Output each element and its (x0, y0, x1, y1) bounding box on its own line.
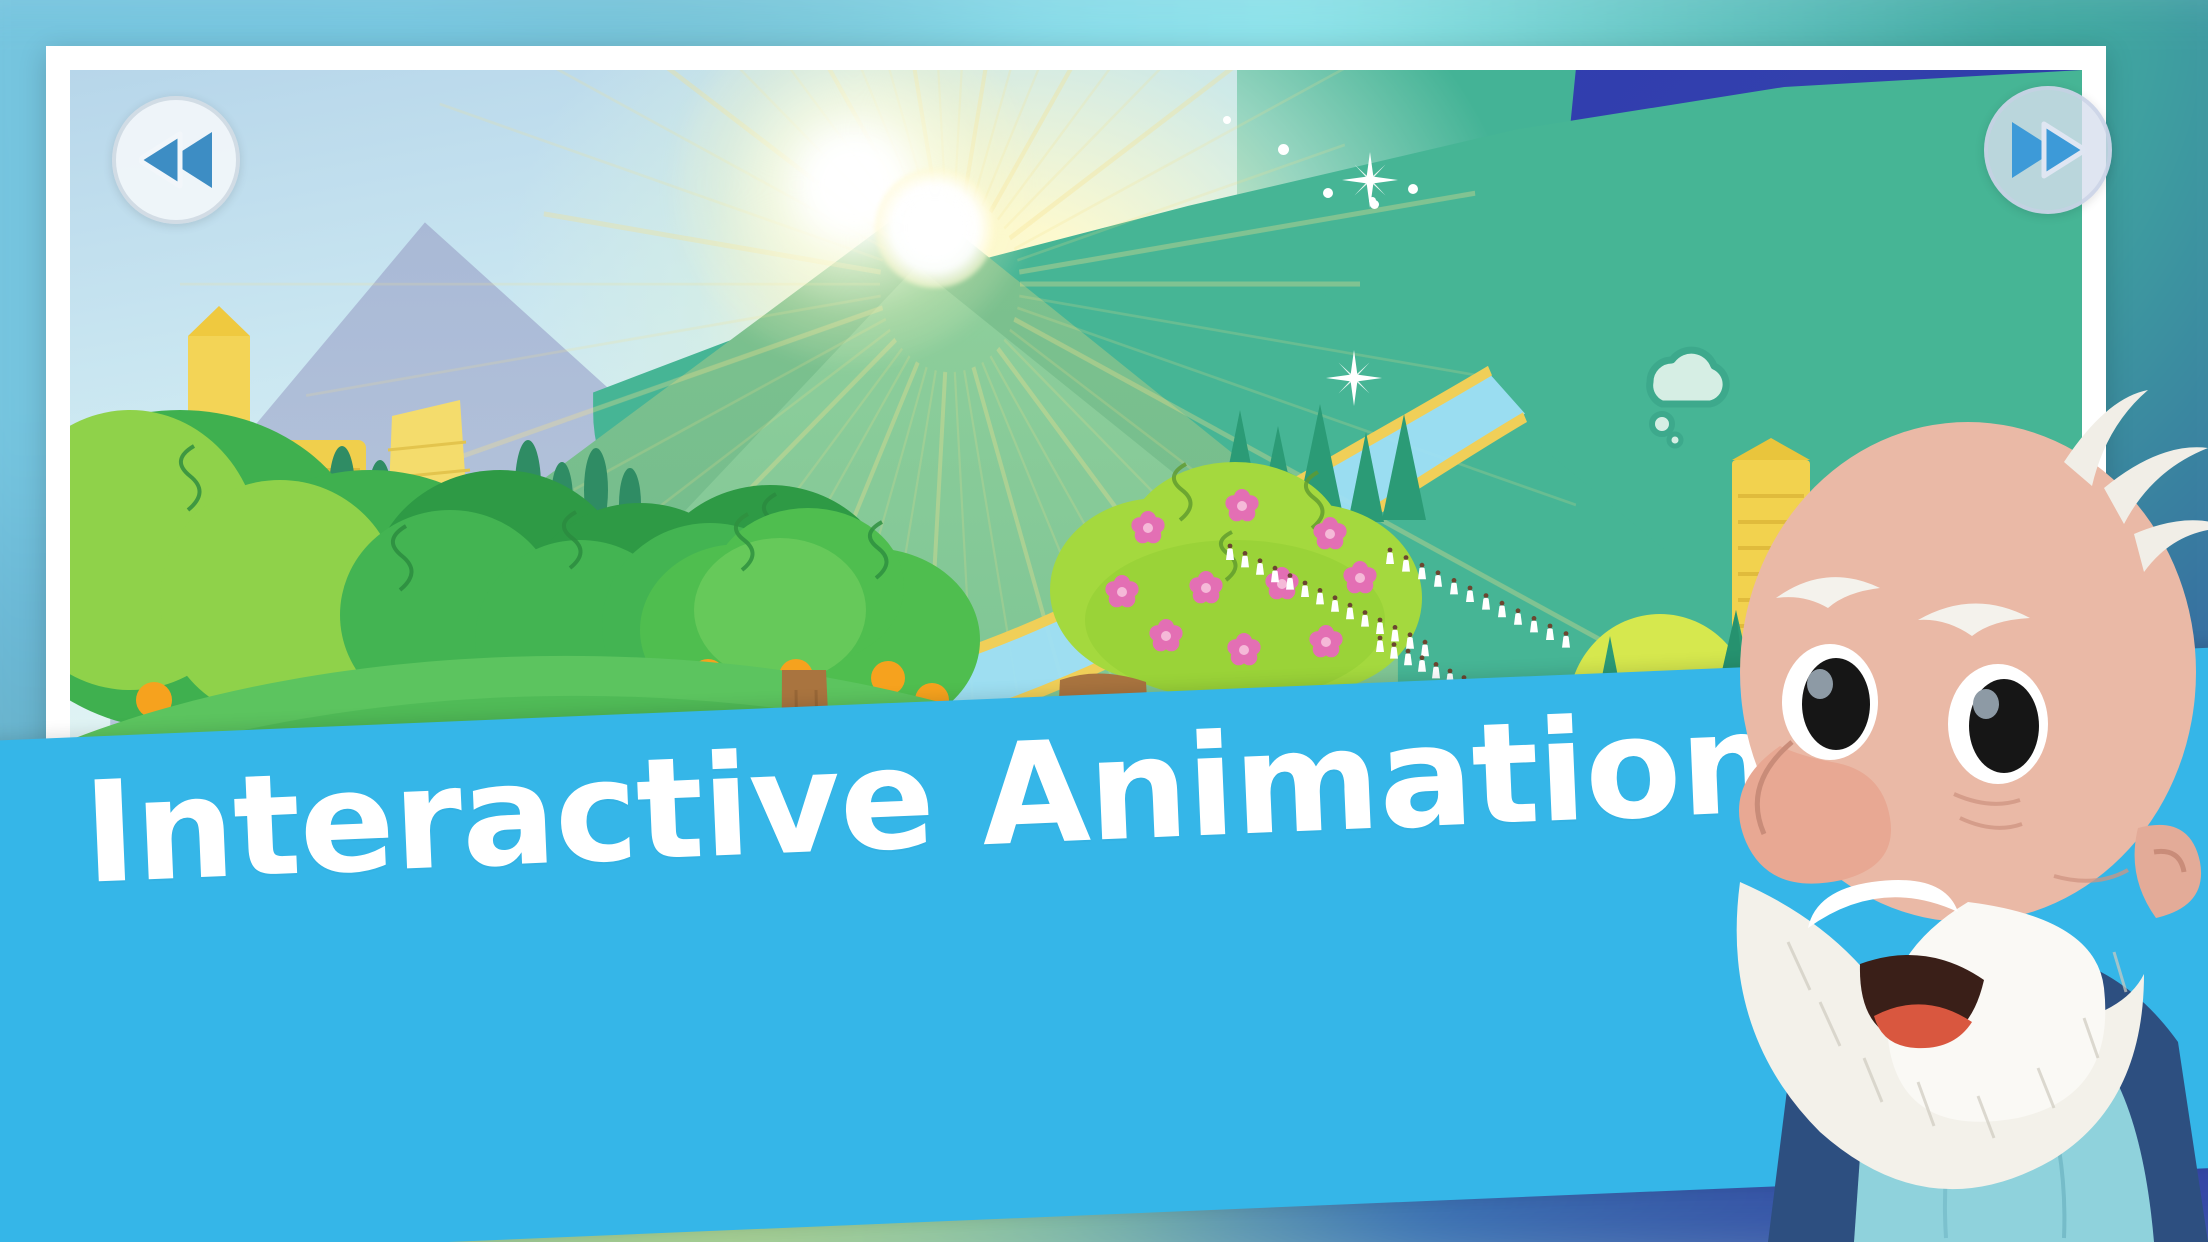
star-dot (1323, 188, 1333, 198)
star-dot (1223, 116, 1231, 124)
sparkle-star-icon (1342, 152, 1398, 208)
sparkle-star-icon (1326, 350, 1382, 406)
caption-banner: Interactive Animations (0, 646, 2208, 1242)
rewind-double-left-icon (134, 128, 218, 192)
next-scene-button[interactable] (1984, 86, 2112, 214)
thought-cloud-icon (1615, 342, 1745, 452)
star-dot (1278, 144, 1289, 155)
fast-forward-double-right-icon (2006, 118, 2090, 182)
star-dot (1408, 184, 1418, 194)
star-dot (1370, 200, 1379, 209)
previous-scene-button[interactable] (112, 96, 240, 224)
